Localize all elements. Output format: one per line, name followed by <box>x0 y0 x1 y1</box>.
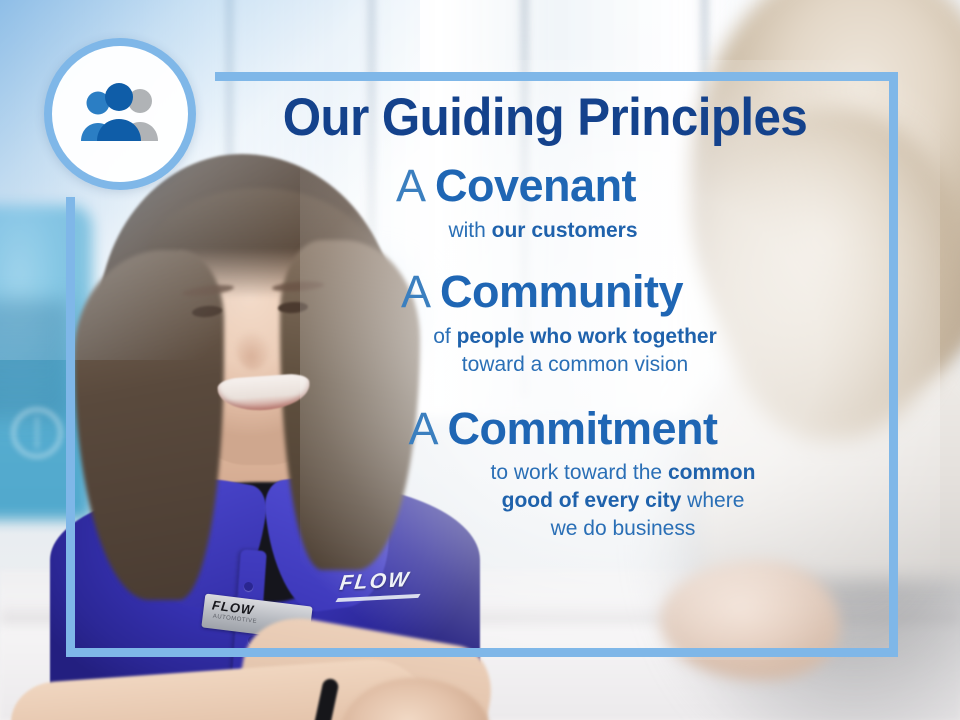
polo-button <box>244 582 253 591</box>
sub-line: toward a common vision <box>281 351 869 379</box>
principle-headline: A Commitment <box>251 405 875 454</box>
sub-line: we do business <box>371 515 875 543</box>
guiding-principles-banner: FLOW FLOW AUTOMOTIVE <box>0 0 960 720</box>
people-group-icon-badge <box>44 38 196 190</box>
principle-covenant: A Covenant with our customers <box>215 162 875 244</box>
principle-headline: A Covenant <box>215 162 817 211</box>
principle-subtext: of people who work together toward a com… <box>215 323 869 378</box>
principle-subtext: to work toward the common good of every … <box>251 459 875 542</box>
principle-headline: A Community <box>215 268 869 317</box>
principle-commitment: A Commitment to work toward the common g… <box>215 405 875 543</box>
sub-line: to work toward the common <box>371 459 875 487</box>
page-title: Our Guiding Principles <box>238 78 852 146</box>
principle-word: Commitment <box>448 403 718 454</box>
principle-article: A <box>401 266 428 317</box>
principle-article: A <box>396 160 423 211</box>
banner-content: Our Guiding Principles A Covenant with o… <box>215 78 875 542</box>
sub-line: with our customers <box>448 219 637 242</box>
sub-line: of people who work together <box>281 323 869 351</box>
sub-line: good of every city where <box>371 487 875 515</box>
principle-word: Covenant <box>435 160 636 211</box>
people-group-icon <box>74 83 166 145</box>
principle-community: A Community of people who work together … <box>215 268 875 378</box>
principle-article: A <box>408 403 435 454</box>
polo-chest-logo: FLOW <box>338 568 411 596</box>
principle-subtext: with our customers <box>215 217 817 245</box>
principle-word: Community <box>440 266 683 317</box>
